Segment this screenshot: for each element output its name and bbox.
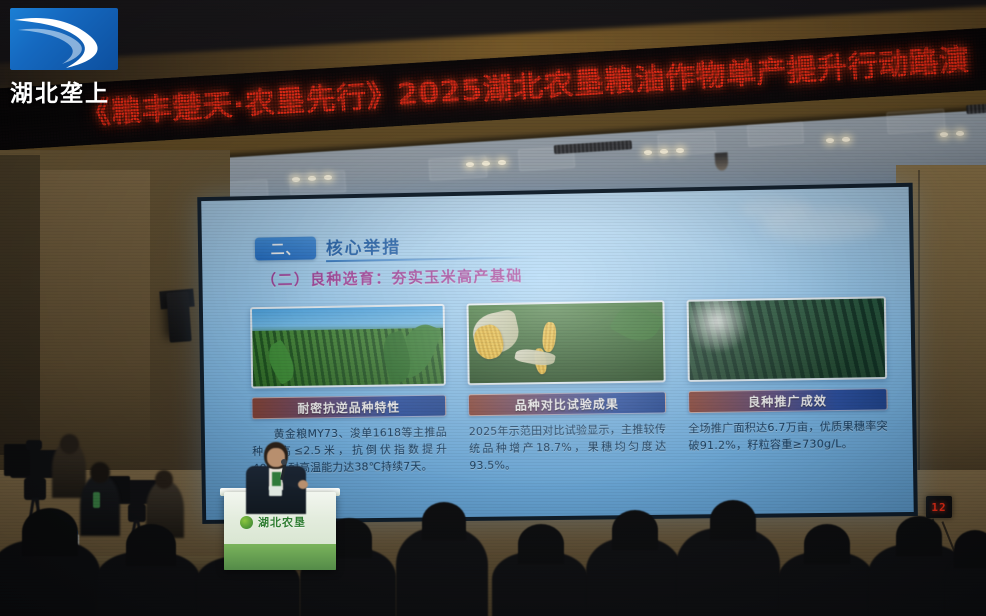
ceiling-spotlight	[644, 150, 652, 155]
ceiling-spotlight	[308, 176, 316, 181]
attendee-lanyard	[93, 492, 100, 508]
wall-seam	[918, 170, 920, 500]
attendee-head	[60, 434, 79, 454]
audience-head	[710, 500, 756, 540]
card-heading-text: 耐密抗逆品种特性	[297, 398, 400, 416]
card-body-text: 全场推广面积达6.7万亩，优质果穗率突破91.2%，籽粒容重≥730g/L。	[688, 417, 888, 454]
ceiling-panel	[428, 155, 487, 181]
ceiling-spotlight	[498, 160, 506, 165]
card-heading-banner: 良种推广成效	[688, 388, 888, 413]
ceiling-spotlight	[940, 132, 948, 137]
section-number-badge: 二、	[255, 237, 316, 261]
audience-head	[896, 516, 942, 556]
audience-head	[518, 524, 564, 564]
audience-head	[126, 524, 176, 566]
camera-head-mount	[24, 478, 46, 500]
countdown-timer-display: 12	[926, 496, 952, 518]
card-heading-banner: 品种对比试验成果	[468, 391, 666, 416]
attendee-head	[155, 470, 173, 489]
slide-card: 良种推广成效 全场推广面积达6.7万亩，优质果穗率突破91.2%，籽粒容重≥73…	[686, 296, 888, 471]
presenter-figure	[236, 442, 318, 532]
corn-cobs-closeup-photo	[467, 300, 666, 385]
wall-speaker-icon	[166, 291, 191, 342]
camera-viewfinder	[26, 440, 42, 450]
ceiling-spotlight	[292, 177, 300, 182]
ceiling-spotlight	[842, 137, 850, 142]
microphone-head-icon	[281, 459, 287, 465]
channel-logo: 湖北垄上	[10, 8, 126, 108]
ceiling-spotlight	[826, 138, 834, 143]
ceiling-spotlight	[660, 149, 668, 154]
audience-head	[422, 502, 466, 540]
channel-logo-text: 湖北垄上	[10, 74, 126, 108]
attendee-figure	[80, 474, 120, 536]
ceiling-spotlight	[466, 162, 474, 167]
audience-head	[22, 508, 78, 556]
corn-field-blue-sky-photo	[250, 304, 446, 389]
ceiling-spotlight	[676, 148, 684, 153]
slide-card: 品种对比试验成果 2025年示范田对比试验显示，主推较传统品种增产18.7%，果…	[467, 300, 667, 474]
section-number-text: 二、	[271, 238, 301, 258]
slide-cards-row: 耐密抗逆品种特性 黄金粮MY73、浚单1618等主推品种株高≤2.5米，抗倒伏指…	[250, 296, 889, 477]
slide-section-title: 核心举措	[326, 233, 402, 259]
podium-green-band	[224, 544, 336, 570]
audience-head	[804, 524, 850, 564]
channel-logo-box	[10, 8, 118, 70]
ceiling-panel	[747, 121, 804, 146]
card-heading-text: 品种对比试验成果	[515, 395, 619, 413]
timer-value: 12	[931, 501, 946, 514]
ceiling-panel	[289, 170, 346, 195]
card-heading-banner: 耐密抗逆品种特性	[251, 395, 446, 420]
presenter-badge	[269, 486, 282, 496]
audience-head	[954, 530, 986, 568]
audience-silhouette	[676, 528, 780, 616]
river-swoosh-icon	[10, 12, 118, 70]
attendee-head	[90, 462, 110, 483]
ceiling-spotlight	[324, 175, 332, 180]
conference-hall-scene: 《粮丰楚天·农垦先行》2025湖北农垦粮油作物单产提升行动路演	[0, 0, 986, 616]
left-wall-dark-strip	[0, 155, 40, 455]
slide-subsection-title: （二）良种选育：夯实玉米高产基础	[261, 265, 523, 291]
card-body-text: 2025年示范田对比试验显示，主推较传统品种增产18.7%，果穗均匀度达93.5…	[469, 420, 667, 474]
ceiling-spotlight	[482, 161, 490, 166]
ceiling-air-vent	[554, 140, 632, 154]
ceiling-spotlight	[956, 131, 964, 136]
card-heading-text: 良种推广成效	[748, 392, 827, 410]
corn-field-sun-flare-photo	[686, 296, 887, 382]
audience-head	[612, 510, 658, 550]
ceiling-lamp-dome	[715, 152, 729, 171]
audience-silhouette	[396, 528, 488, 616]
ceiling-panel	[886, 109, 945, 135]
presenter-hand	[298, 480, 308, 489]
